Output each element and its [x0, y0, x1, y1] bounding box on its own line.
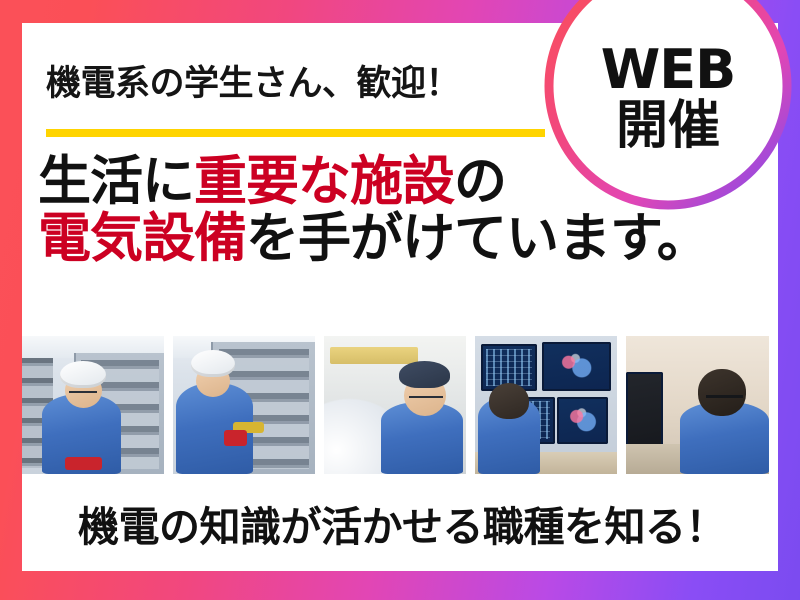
headline-text-red-2: 電気設備: [38, 208, 246, 269]
photo-scene-panel-inspection: [173, 336, 315, 474]
headline-text-plain-a: 生活に: [38, 151, 194, 212]
headline-text-red-1: 重要な施設: [194, 151, 454, 212]
photo-item: [324, 336, 466, 474]
badge-label-group: WEB 開催: [544, 0, 792, 210]
headline-text-plain-b: の: [454, 151, 506, 212]
recruitment-banner[interactable]: 機電系の学生さん、歓迎！ 生活に重要な施設の 電気設備を手がけています。: [0, 0, 800, 600]
banner-bottom-text: 機電の知識が活かせる職種を知る！: [46, 493, 758, 553]
photo-strip: [22, 336, 778, 474]
photo-item: [475, 336, 617, 474]
badge-line-kaisai: 開催: [616, 99, 720, 154]
photo-item: [626, 336, 769, 474]
banner-subheading: 機電系の学生さん、歓迎！: [46, 55, 566, 106]
photo-item: [173, 336, 315, 474]
photo-scene-factory-technician: [324, 336, 466, 474]
badge-line-web: WEB: [601, 43, 736, 97]
yellow-underline-rule: [46, 129, 545, 137]
photo-scene-control-room-monitors: [475, 336, 617, 474]
headline-line-2: 電気設備を手がけています。: [38, 210, 738, 267]
web-event-badge[interactable]: WEB 開催: [544, 0, 792, 210]
photo-item: [22, 336, 164, 474]
headline-text-plain-c: を手がけています。: [246, 208, 709, 269]
photo-scene-control-panel-worker: [22, 336, 164, 474]
photo-scene-office-pc-worker: [626, 336, 769, 474]
